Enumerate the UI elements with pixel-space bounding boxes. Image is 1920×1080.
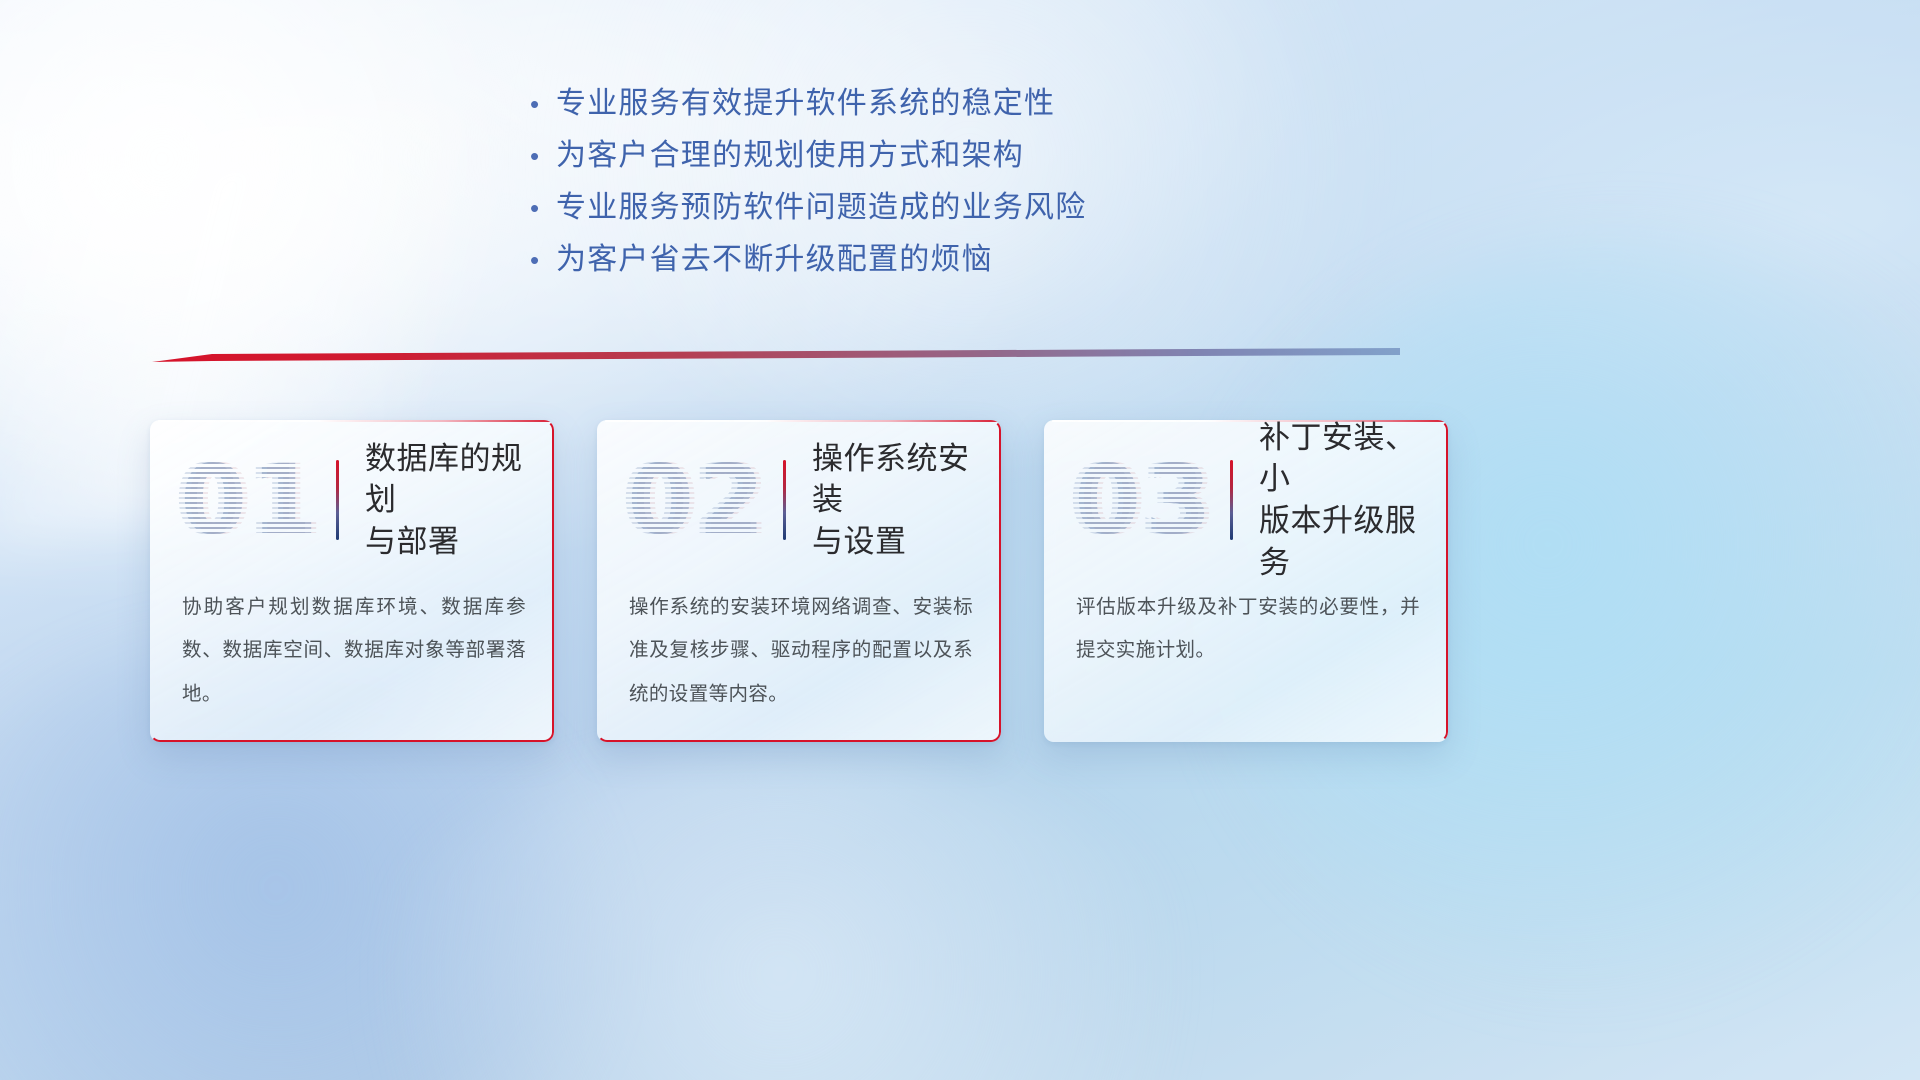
card-title-line: 与设置 (812, 521, 987, 563)
bullet-text: 专业服务预防软件问题造成的业务风险 (556, 190, 1086, 226)
card-number-text: 03 (1074, 452, 1216, 548)
card-body-text: 操作系统的安装环境网络调查、安装标准及复核步骤、驱动程序的配置以及系统的设置等内… (629, 586, 973, 716)
bullet-dot-icon: • (530, 91, 556, 117)
card-number-watermark: 01 01 01 (176, 445, 326, 555)
list-item: • 为客户省去不断升级配置的烦恼 (530, 242, 1270, 294)
card-number-text: 01 (180, 452, 322, 548)
bullet-dot-icon: • (530, 143, 556, 169)
card-title-line: 数据库的规划 (365, 438, 540, 521)
service-card-02[interactable]: 02 02 02 操作系统安装 与设置 操作系统的安装环境网络调查、安装标准及复… (597, 420, 1001, 742)
divider-gradient-line (152, 348, 1400, 366)
card-header: 03 03 03 补丁安装、小 版本升级服务 (1044, 420, 1448, 580)
card-body-text: 评估版本升级及补丁安装的必要性，并提交实施计划。 (1076, 586, 1420, 673)
service-card-01[interactable]: 01 01 01 数据库的规划 与部署 协助客户规划数据库环境、数据库参数、数据… (150, 420, 554, 742)
list-item: • 专业服务有效提升软件系统的稳定性 (530, 86, 1270, 138)
card-title: 数据库的规划 与部署 (365, 438, 554, 563)
service-cards-row: 01 01 01 数据库的规划 与部署 协助客户规划数据库环境、数据库参数、数据… (150, 420, 1450, 742)
card-title-line: 补丁安装、小 (1259, 420, 1434, 500)
bullet-dot-icon: • (530, 247, 556, 273)
list-item: • 专业服务预防软件问题造成的业务风险 (530, 190, 1270, 242)
card-title: 补丁安装、小 版本升级服务 (1259, 420, 1448, 583)
bullet-text: 为客户合理的规划使用方式和架构 (556, 138, 1024, 174)
card-title-accent-bar (1230, 460, 1233, 540)
card-header: 02 02 02 操作系统安装 与设置 (597, 420, 1001, 580)
card-number-text: 02 (627, 452, 769, 548)
bullet-text: 为客户省去不断升级配置的烦恼 (556, 242, 993, 278)
card-number-watermark: 02 02 02 (623, 445, 773, 555)
card-title-line: 版本升级服务 (1259, 500, 1434, 583)
bullet-dot-icon: • (530, 195, 556, 221)
background-bloom-bottom-center (330, 750, 1230, 1080)
bullet-text: 专业服务有效提升软件系统的稳定性 (556, 86, 1055, 122)
card-title-accent-bar (336, 460, 339, 540)
card-title-line: 操作系统安装 (812, 438, 987, 521)
card-header: 01 01 01 数据库的规划 与部署 (150, 420, 554, 580)
card-title: 操作系统安装 与设置 (812, 438, 1001, 563)
card-number-watermark: 03 03 03 (1070, 445, 1220, 555)
list-item: • 为客户合理的规划使用方式和架构 (530, 138, 1270, 190)
card-title-line: 与部署 (365, 521, 540, 563)
section-divider (152, 348, 1400, 366)
card-title-accent-bar (783, 460, 786, 540)
benefits-bullet-list: • 专业服务有效提升软件系统的稳定性 • 为客户合理的规划使用方式和架构 • 专… (530, 86, 1270, 294)
slide-canvas: • 专业服务有效提升软件系统的稳定性 • 为客户合理的规划使用方式和架构 • 专… (0, 0, 1920, 1080)
service-card-03[interactable]: 03 03 03 补丁安装、小 版本升级服务 评估版本升级及补丁安装的必要性，并… (1044, 420, 1448, 742)
card-body-text: 协助客户规划数据库环境、数据库参数、数据库空间、数据库对象等部署落地。 (182, 586, 526, 716)
